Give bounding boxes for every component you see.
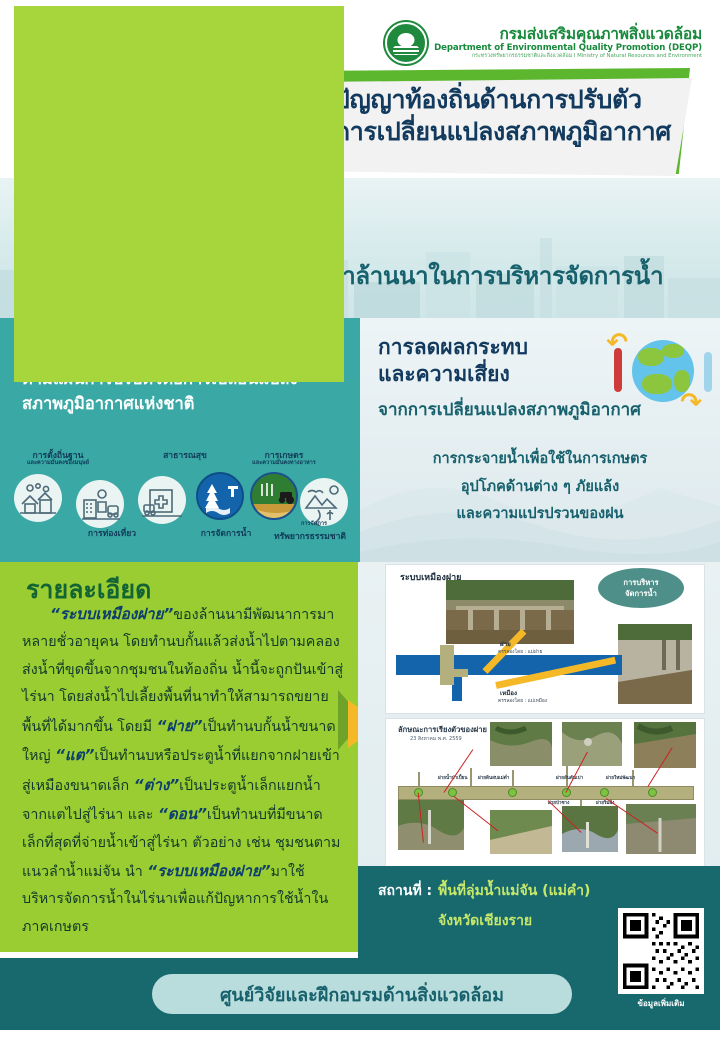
bubble-line-2: จัดการน้ำ — [598, 588, 684, 599]
sector-sublabel-natural: การจัดการ — [272, 520, 356, 528]
natural-resources-icon[interactable] — [300, 478, 348, 526]
timeline-tick — [418, 772, 420, 786]
agriculture-icon[interactable] — [250, 472, 298, 520]
tourism-icon[interactable] — [76, 480, 124, 528]
sector-label-water: การจัดการน้ำ — [178, 526, 274, 540]
impact-panel-body: การกระจายน้ำเพื่อใช้ในการเกษตร อุปโภคด้า… — [360, 446, 720, 529]
impact-reduction-panel: การลดผลกระทบ และความเสี่ยง จากการเปลี่ยน… — [360, 318, 720, 570]
sector-sublabel-agriculture: และความมั่นคงทางอาหาร — [236, 459, 332, 467]
impact-panel-subheading: จากการเปลี่ยนแปลงสภาพภูมิอากาศ — [378, 396, 641, 423]
term-fai: “ฝาย” — [157, 717, 203, 735]
weir-photo-large — [446, 580, 574, 644]
sublabel-fai: ครรลองโดย : แม่ฝาย — [498, 648, 542, 656]
ministry-name: กระทรวงทรัพยากรธรรมชาติและสิ่งแวดล้อม I … — [434, 53, 702, 59]
sector-label-health: สาธารณสุข — [140, 448, 230, 462]
location-key: สถานที่ : — [378, 880, 432, 902]
aerial-photo-top-1 — [490, 722, 552, 766]
sector-icons-row: การตั้งถิ่นฐาน และความมั่นคงของมนุษย์ สา… — [0, 446, 360, 564]
bubble-line-1: การบริหาร — [598, 577, 684, 588]
sector-sub-line-2: สภาพภูมิอากาศแห่งชาติ — [22, 391, 352, 416]
location-value-line-1: พื้นที่ลุ่มน้ำแม่จัน (แม่คำ) — [438, 880, 590, 902]
figure2-date: 23 สิงหาคม พ.ศ. 2559 — [410, 735, 462, 743]
sector-label-tourism: การท่องเที่ยว — [64, 526, 160, 540]
footer-text: ศูนย์วิจัยและฝึกอบรมด้านสิ่งแวดล้อม — [220, 980, 504, 1009]
qr-caption: ข้อมูลเพิ่มเติม — [618, 997, 704, 1010]
term-tae: “แต” — [55, 746, 94, 764]
impact-body-line-1: การกระจายน้ำเพื่อใช้ในการเกษตร — [360, 446, 720, 474]
department-logo: กรมส่งเสริมคุณภาพสิ่งแวดล้อม Department … — [385, 22, 702, 64]
sublabel-muang: ครรลองโดย : แม่เหมือง — [498, 697, 547, 705]
aerial-photo-bottom-1 — [398, 800, 464, 850]
timeline-node[interactable] — [448, 788, 457, 797]
aerial-photo-top-3 — [634, 722, 696, 768]
qr-code-graphic — [623, 913, 699, 989]
weir-photo-small — [618, 624, 692, 704]
footer-pill[interactable]: ศูนย์วิจัยและฝึกอบรมด้านสิ่งแวดล้อม — [152, 974, 572, 1014]
impact-heading-line-2: และความเสี่ยง — [378, 361, 528, 388]
deqp-emblem-icon — [385, 22, 427, 64]
term-tang: “ต่าง” — [134, 776, 179, 794]
aerial-photo-bottom-3 — [562, 806, 618, 852]
detail-body-text: “ระบบเหมืองฝาย”ของล้านนามีพัฒนาการมาหลาย… — [22, 600, 344, 941]
weir-gate-shape — [440, 645, 454, 685]
term-system: “ระบบเหมืองฝาย” — [50, 605, 173, 623]
bottom-white-strip — [0, 1030, 720, 1040]
term-don: “ดอน” — [158, 805, 207, 823]
timeline-tick — [470, 768, 472, 786]
poster-root: กรมส่งเสริมคุณภาพสิ่งแวดล้อม Department … — [0, 0, 720, 1040]
aerial-photo-bottom-2 — [490, 810, 552, 854]
department-text-block: กรมส่งเสริมคุณภาพสิ่งแวดล้อม Department … — [434, 26, 702, 59]
timeline-node[interactable] — [648, 788, 657, 797]
health-icon[interactable] — [138, 476, 186, 524]
timeline-node[interactable] — [600, 788, 609, 797]
qr-code[interactable] — [618, 908, 704, 994]
department-name-thai: กรมส่งเสริมคุณภาพสิ่งแวดล้อม — [434, 26, 702, 43]
impact-panel-heading: การลดผลกระทบ และความเสี่ยง — [378, 334, 528, 389]
location-value-line-2: จังหวัดเชียงราย — [438, 910, 532, 932]
detail-panel-inner — [14, 6, 344, 382]
water-management-icon[interactable] — [196, 472, 244, 520]
sector-sublabel-settlement: และความมั่นคงของมนุษย์ — [6, 459, 110, 467]
term-system-2: “ระบบเหมืองฝาย” — [147, 862, 270, 880]
cold-thermometer-icon — [704, 352, 712, 392]
timeline-label-2: ฝายดินสบแม่ต่ำ — [478, 775, 509, 782]
sluice-gate-shape — [446, 669, 468, 677]
aerial-photo-top-2 — [562, 722, 622, 766]
settlement-icon[interactable] — [14, 474, 62, 522]
timeline-label-7: ฝายใหม่พัฒนา — [606, 775, 635, 782]
sector-label-natural: ทรัพยากรธรรมชาติ — [262, 529, 358, 543]
rotation-arrow-bottom-icon: ↷ — [680, 388, 702, 418]
detail-paragraph: ของล้านนามีพัฒนาการมาหลายชั่วอายุคน โดยท… — [22, 607, 343, 735]
water-management-bubble: การบริหาร จัดการน้ำ — [598, 568, 684, 608]
hot-thermometer-icon — [614, 348, 622, 392]
impact-body-line-2: อุปโภคด้านต่าง ๆ ภัยแล้ง — [360, 474, 720, 502]
impact-heading-line-1: การลดผลกระทบ — [378, 334, 528, 361]
timeline-tick — [512, 770, 514, 786]
timeline-label-4: ฝายสันต้นเปา — [556, 775, 583, 782]
aerial-photo-bottom-4 — [626, 804, 696, 854]
timeline-node[interactable] — [508, 788, 517, 797]
impact-body-line-3: และความแปรปรวนของฝน — [360, 501, 720, 529]
